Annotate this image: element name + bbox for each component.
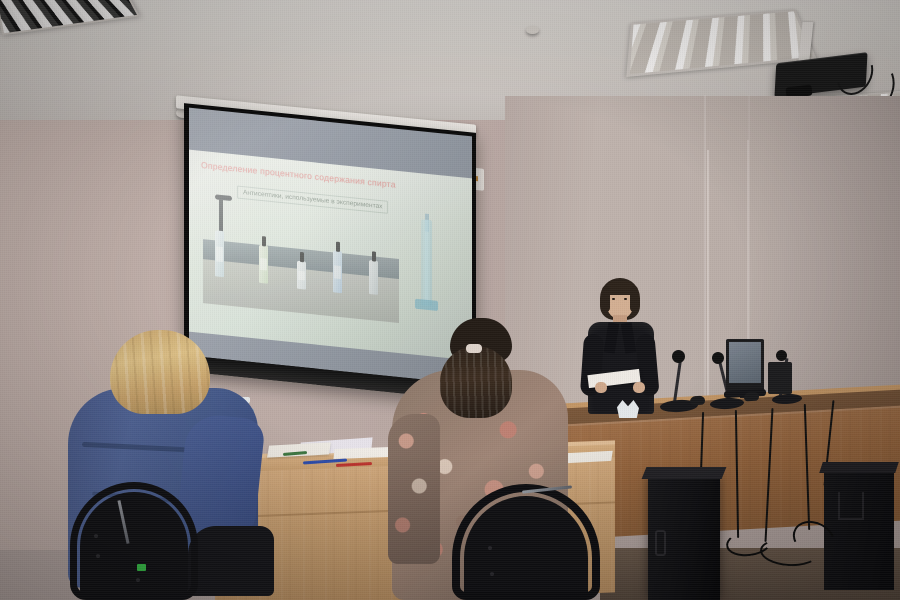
ponytail-strands — [440, 346, 512, 418]
presenter-hair-side-left — [602, 286, 610, 312]
slide-bottle-3-cap — [300, 252, 304, 262]
chair-left[interactable] — [70, 482, 198, 600]
speaker-top — [642, 467, 727, 479]
chair-center-rivet-2 — [490, 572, 494, 576]
presenter-hand-right — [633, 382, 645, 393]
pa-speaker-right — [824, 470, 894, 590]
chair-left-frame — [70, 482, 198, 600]
slide-bottle-1 — [215, 230, 224, 277]
chair-left-rivet — [94, 534, 98, 538]
chair-left-rivet-3 — [136, 578, 140, 582]
slide-measuring-cylinder — [421, 219, 432, 306]
slide-bottle-2-cap — [262, 236, 266, 246]
audience-floral-sleeve — [388, 414, 440, 564]
computer-mouse-secondary[interactable] — [744, 392, 759, 402]
slide-bottle-1-label — [216, 247, 223, 262]
presenter-hand-left — [595, 382, 607, 393]
chair-left-rivet-2 — [96, 554, 100, 558]
slide-subtitle: Антисептики, используемые в эксперимента… — [237, 186, 388, 214]
monitor-screen — [729, 342, 761, 383]
slide-bottle-3-label — [298, 271, 305, 281]
microphone-head-tertiary — [776, 350, 787, 361]
slide-bottle-2-label — [260, 258, 267, 271]
microphone-head — [672, 350, 685, 363]
speaker-handle — [655, 530, 666, 556]
slide-pump-head — [215, 194, 232, 201]
papers-stack-tertiary — [333, 447, 390, 459]
slide-bottle-2 — [259, 245, 268, 284]
computer-mouse[interactable] — [690, 396, 705, 406]
ceiling-sensor-icon — [526, 26, 539, 34]
presenter-hair-side-right — [630, 286, 638, 312]
speaker-top-secondary — [819, 462, 899, 473]
speaker-port — [838, 492, 864, 520]
slide-bottle-4-label — [334, 265, 341, 279]
presenter-eye-left — [612, 298, 615, 300]
slide-bottle-5 — [369, 260, 378, 295]
chair-center-frame — [452, 484, 600, 600]
slide-bottle-4-cap — [336, 242, 340, 252]
pa-speaker-left — [648, 476, 720, 600]
computer-tower — [768, 362, 792, 394]
audience-blue-hair — [110, 330, 210, 414]
slide-bottle-3 — [297, 261, 306, 290]
slide-pump-stem — [219, 199, 223, 233]
computer-monitor[interactable] — [726, 339, 764, 391]
presenter-eye-right — [624, 298, 627, 300]
chair-center[interactable] — [452, 484, 600, 600]
slide-cylinder-base — [415, 299, 438, 311]
microphone-head-secondary — [712, 352, 724, 364]
chair-left-green-marker — [137, 564, 146, 571]
hair-strands — [110, 330, 210, 414]
hair-clip — [466, 344, 482, 353]
slide-bottle-4 — [333, 250, 342, 293]
audience-floral-ponytail — [440, 346, 512, 418]
audience-blue-lap — [188, 526, 274, 596]
slide-bottle-5-cap — [372, 251, 376, 261]
chair-center-rivet — [488, 546, 492, 550]
conference-room-photo: Определение процентного содержания спирт… — [0, 0, 900, 600]
